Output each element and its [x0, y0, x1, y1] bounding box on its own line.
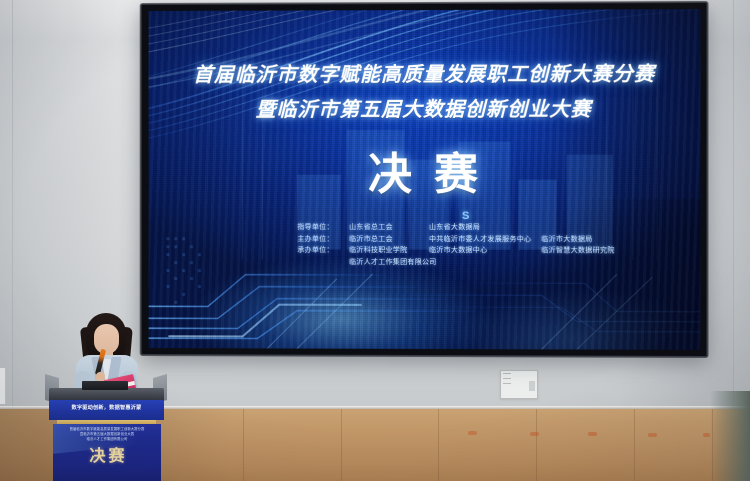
conference-hall-scene: · · · ·: [0, 0, 750, 481]
organizer-label: 承办单位：: [297, 245, 349, 257]
wall-edge-trim: [0, 368, 6, 404]
organizer-value: 临沂人才工作集团有限公司: [349, 256, 436, 268]
led-display-surface: 首届临沂市数字赋能高质量发展职工创新大赛分赛 暨临沂市第五届大数据创新创业大赛 …: [149, 9, 701, 350]
screen-headline: 决赛: [149, 138, 701, 202]
podium-banner-text: 数字驱动创新，数据智惠沂蒙: [49, 404, 164, 411]
organizer-row: 指导单位： 山东省总工会 山东省大数据局: [297, 222, 698, 234]
screen-title-line-2: 暨临沂市第五届大数据创新创业大赛: [149, 93, 701, 123]
organizer-label: 主办单位：: [297, 233, 349, 245]
floor-right-corner: [710, 391, 750, 481]
floor-marker: [588, 432, 597, 436]
wall-control-panel[interactable]: · · · ·: [500, 370, 538, 399]
organizer-label: 指导单位：: [297, 222, 349, 234]
organizer-value: 山东省总工会: [349, 222, 429, 234]
led-display-frame: 首届临沂市数字赋能高质量发展职工创新大赛分赛 暨临沂市第五届大数据创新创业大赛 …: [141, 2, 708, 357]
organizer-value: 临沂市大数据局: [541, 234, 592, 246]
organizer-value: 临沂科技职业学院: [349, 245, 429, 257]
wall-seam: [733, 0, 734, 430]
floor-marker: [648, 433, 657, 437]
podium-banner: 数字驱动创新，数据智惠沂蒙: [49, 400, 164, 420]
organizer-value: 临沂市总工会: [349, 233, 429, 245]
podium-front-line-3: 临沂人才工作集团有限公司: [53, 437, 161, 442]
floor-marker: [468, 431, 477, 435]
organizer-row: 主办单位： 临沂市总工会 中共临沂市委人才发展服务中心 临沂市大数据局: [297, 233, 698, 245]
screen-logo-mark: S: [462, 210, 469, 222]
organizer-value: 临沂市大数据中心: [429, 245, 541, 257]
organizer-value: 临沂智慧大数据研究院: [541, 245, 614, 257]
organizer-row: 承办单位： 临沂科技职业学院 临沂市大数据中心 临沂智慧大数据研究院: [297, 245, 698, 257]
organizer-value: 山东省大数据局: [429, 222, 541, 234]
podium: 数字驱动创新，数据智惠沂蒙 首届临沂市数字赋能高质量发展职工创新大赛分赛 暨临沂…: [49, 388, 164, 481]
podium-front-panel: 首届临沂市数字赋能高质量发展职工创新大赛分赛 暨临沂市第五届大数据创新创业大赛 …: [53, 424, 161, 481]
wall-panel-label: · · · ·: [513, 374, 521, 378]
organizer-row: 临沂人才工作集团有限公司: [297, 256, 698, 268]
floor-marker: [530, 432, 539, 436]
podium-front-subtext: 首届临沂市数字赋能高质量发展职工创新大赛分赛 暨临沂市第五届大数据创新创业大赛 …: [53, 427, 161, 442]
organizer-credits-block: 指导单位： 山东省总工会 山东省大数据局 主办单位： 临沂市总工会 中共临沂市委…: [297, 222, 698, 269]
podium-laptop: [82, 381, 128, 390]
floor-marker: [703, 433, 710, 437]
podium-front-headline: 决赛: [53, 446, 161, 466]
wall-seam: [12, 0, 13, 430]
screen-title-line-1: 首届临沂市数字赋能高质量发展职工创新大赛分赛: [149, 57, 701, 87]
organizer-value: 中共临沂市委人才发展服务中心: [429, 234, 541, 246]
